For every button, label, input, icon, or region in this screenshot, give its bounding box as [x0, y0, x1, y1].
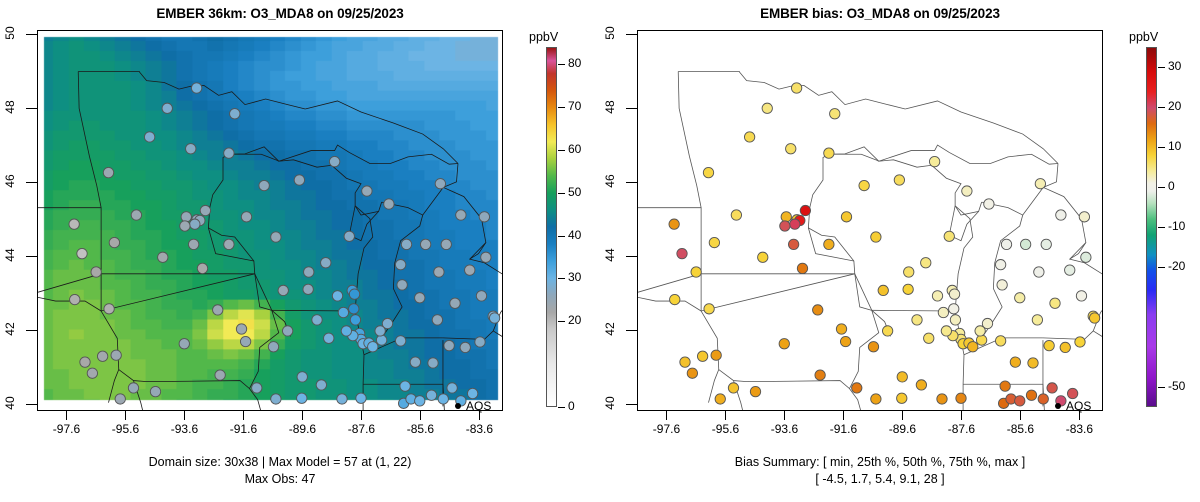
x-tick-label: -87.6: [931, 422, 991, 436]
y-tick-label: 44: [603, 240, 617, 270]
y-tick-label: 42: [603, 314, 617, 344]
colorbar-tick-label: 40: [568, 228, 581, 242]
colorbar-bias-unit: ppbV: [1129, 30, 1158, 44]
panel-bias-caption-line1: Bias Summary: [ min, 25th %, 50th %, 75t…: [600, 455, 1160, 469]
x-tick-label: -87.6: [331, 422, 391, 436]
x-tick-label: -93.6: [754, 422, 814, 436]
panel-model-x-axis: -97.6-95.6-93.6-91.6-89.6-87.6-85.6-83.6: [37, 411, 503, 423]
colorbar-tick: [1158, 147, 1165, 148]
colorbar-tick-label: 60: [568, 142, 581, 156]
colorbar-tick-label: 80: [568, 56, 581, 70]
y-tick: [626, 108, 637, 109]
x-tick: [1020, 411, 1021, 420]
y-tick-label: 40: [3, 388, 17, 418]
colorbar-tick: [558, 321, 565, 322]
x-tick: [666, 411, 667, 420]
aqs-legend-model: AQS: [455, 399, 491, 413]
x-tick-label: -89.6: [272, 422, 332, 436]
x-tick: [784, 411, 785, 420]
x-tick: [66, 411, 67, 420]
x-tick-label: -85.6: [390, 422, 450, 436]
colorbar-tick-label: -50: [1168, 379, 1185, 393]
colorbar-tick-label: 30: [1168, 59, 1181, 73]
x-tick: [361, 411, 362, 420]
y-tick-label: 48: [3, 92, 17, 122]
colorbar-tick: [1158, 227, 1165, 228]
y-tick: [26, 404, 37, 405]
colorbar-tick-label: -10: [1168, 219, 1185, 233]
x-tick: [302, 411, 303, 420]
colorbar-tick-label: 50: [568, 185, 581, 199]
y-tick-label: 46: [603, 166, 617, 196]
y-tick-label: 50: [603, 18, 617, 48]
colorbar-tick-label: 10: [1168, 139, 1181, 153]
x-tick: [125, 411, 126, 420]
y-tick-label: 46: [3, 166, 17, 196]
colorbar-tick-label: 0: [1168, 179, 1175, 193]
colorbar-tick: [558, 193, 565, 194]
colorbar-tick-label: 0: [568, 399, 575, 413]
colorbar-tick-label: 70: [568, 99, 581, 113]
colorbar-tick-label: 30: [568, 270, 581, 284]
colorbar-model-unit: ppbV: [529, 30, 558, 44]
aqs-legend-label: AQS: [466, 399, 491, 413]
x-tick-label: -95.6: [95, 422, 155, 436]
y-tick: [626, 256, 637, 257]
panel-bias-plot-area: [637, 30, 1103, 411]
panel-bias-caption-line2: [ -4.5, 1.7, 5.4, 9.1, 28 ]: [600, 472, 1160, 486]
y-tick: [626, 404, 637, 405]
aqs-marker-icon: [455, 403, 461, 409]
x-tick-label: -89.6: [872, 422, 932, 436]
bias-map-overlay: [638, 31, 1102, 410]
panel-model: EMBER 36km: O3_MDA8 on 09/25/2023 404244…: [0, 0, 600, 502]
x-tick-label: -83.6: [449, 422, 509, 436]
colorbar-model-gradient: [546, 47, 557, 407]
y-tick: [626, 34, 637, 35]
colorbar-tick: [558, 407, 565, 408]
y-tick-label: 48: [603, 92, 617, 122]
panel-model-caption-line1: Domain size: 30x38 | Max Model = 57 at (…: [0, 455, 560, 469]
y-tick-label: 50: [3, 18, 17, 48]
y-tick: [26, 108, 37, 109]
y-tick: [26, 330, 37, 331]
aqs-legend-label: AQS: [1066, 399, 1091, 413]
aqs-marker-icon: [1055, 403, 1061, 409]
colorbar-bias-gradient: [1146, 47, 1157, 407]
y-tick: [26, 34, 37, 35]
y-tick-label: 42: [3, 314, 17, 344]
panel-bias-x-axis: -97.6-95.6-93.6-91.6-89.6-87.6-85.6-83.6: [637, 411, 1103, 423]
ember-comparison-figure: EMBER 36km: O3_MDA8 on 09/25/2023 404244…: [0, 0, 1200, 502]
colorbar-tick-label: -20: [1168, 259, 1185, 273]
colorbar-tick: [1158, 67, 1165, 68]
x-tick: [902, 411, 903, 420]
y-tick: [26, 182, 37, 183]
x-tick-label: -91.6: [813, 422, 873, 436]
colorbar-tick: [1158, 187, 1165, 188]
x-tick-label: -95.6: [695, 422, 755, 436]
panel-model-title: EMBER 36km: O3_MDA8 on 09/25/2023: [0, 6, 560, 21]
x-tick: [184, 411, 185, 420]
x-tick-label: -91.6: [213, 422, 273, 436]
x-tick: [420, 411, 421, 420]
x-tick: [843, 411, 844, 420]
y-tick: [626, 330, 637, 331]
model-map-overlay: [38, 31, 502, 410]
colorbar-tick-label: 20: [568, 313, 581, 327]
x-tick-label: -83.6: [1049, 422, 1109, 436]
panel-bias: EMBER bias: O3_MDA8 on 09/25/2023 404244…: [600, 0, 1200, 502]
panel-model-plot-area: [37, 30, 503, 411]
x-tick: [725, 411, 726, 420]
panel-model-y-axis: 404244464850: [26, 30, 38, 411]
y-tick-label: 44: [3, 240, 17, 270]
colorbar-tick: [558, 236, 565, 237]
panel-bias-y-axis: 404244464850: [626, 30, 638, 411]
colorbar-tick: [1158, 267, 1165, 268]
y-tick-label: 40: [603, 388, 617, 418]
colorbar-tick: [558, 107, 565, 108]
x-tick: [243, 411, 244, 420]
aqs-legend-bias: AQS: [1055, 399, 1091, 413]
panel-bias-title: EMBER bias: O3_MDA8 on 09/25/2023: [600, 6, 1160, 21]
colorbar-tick: [558, 150, 565, 151]
y-tick: [26, 256, 37, 257]
x-tick: [961, 411, 962, 420]
y-tick: [626, 182, 637, 183]
x-tick-label: -85.6: [990, 422, 1050, 436]
x-tick-label: -93.6: [154, 422, 214, 436]
colorbar-tick: [558, 278, 565, 279]
panel-model-caption-line2: Max Obs: 47: [0, 472, 560, 486]
colorbar-tick-label: 20: [1168, 99, 1181, 113]
colorbar-tick: [1158, 387, 1165, 388]
colorbar-tick: [1158, 107, 1165, 108]
colorbar-tick: [558, 64, 565, 65]
x-tick-label: -97.6: [36, 422, 96, 436]
x-tick-label: -97.6: [636, 422, 696, 436]
